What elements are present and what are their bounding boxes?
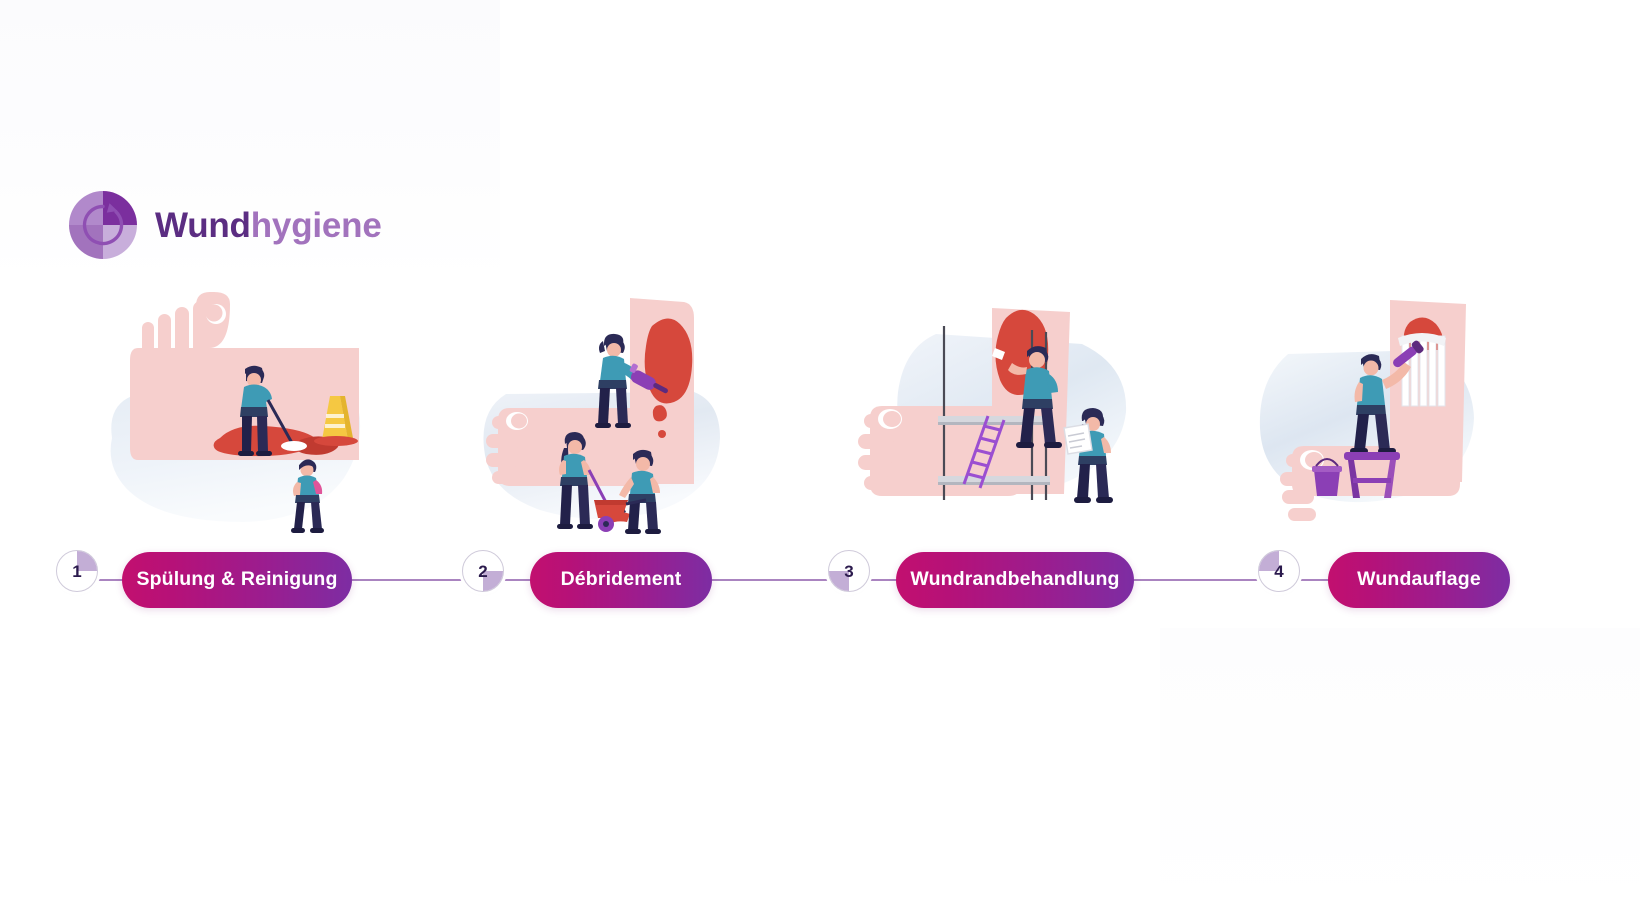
step-label-4: Wundauflage: [1357, 570, 1481, 590]
illustration-row: [0, 288, 1640, 538]
step-button-2[interactable]: Débridement: [530, 552, 712, 608]
step-number-4: 4: [1274, 563, 1283, 580]
step-marker-1[interactable]: 1: [56, 550, 98, 592]
step-button-4[interactable]: Wundauflage: [1328, 552, 1510, 608]
connector-line: [1134, 579, 1262, 581]
step-label-3: Wundrandbehandlung: [910, 570, 1119, 590]
background-wash-bottom-right: [1160, 628, 1640, 924]
step-marker-3[interactable]: 3: [828, 550, 870, 592]
step-number-2: 2: [478, 563, 487, 580]
wound-cycle-logo-icon: [68, 190, 138, 260]
step-label-1: Spülung & Reinigung: [136, 570, 337, 590]
step-button-3[interactable]: Wundrandbehandlung: [896, 552, 1134, 608]
illustration-step-1: [104, 288, 374, 538]
step-marker-4[interactable]: 4: [1258, 550, 1300, 592]
brand-title: Wundhygiene: [155, 208, 382, 243]
step-button-1[interactable]: Spülung & Reinigung: [122, 552, 352, 608]
step-number-1: 1: [72, 563, 81, 580]
connector-line: [712, 579, 836, 581]
brand-name-light: hygiene: [251, 206, 382, 245]
step-label-2: Débridement: [561, 570, 682, 590]
connector-line: [352, 579, 472, 581]
illustration-step-3: [840, 288, 1150, 538]
process-stepper: 1 Spülung & Reinigung 2 Débridement 3 Wu…: [0, 550, 1640, 612]
illustration-step-4: [1252, 288, 1490, 538]
brand-logo: Wundhygiene: [68, 190, 382, 260]
step-marker-2[interactable]: 2: [462, 550, 504, 592]
step-number-3: 3: [844, 563, 853, 580]
brand-name-strong: Wund: [155, 206, 251, 245]
illustration-step-2: [470, 288, 738, 538]
